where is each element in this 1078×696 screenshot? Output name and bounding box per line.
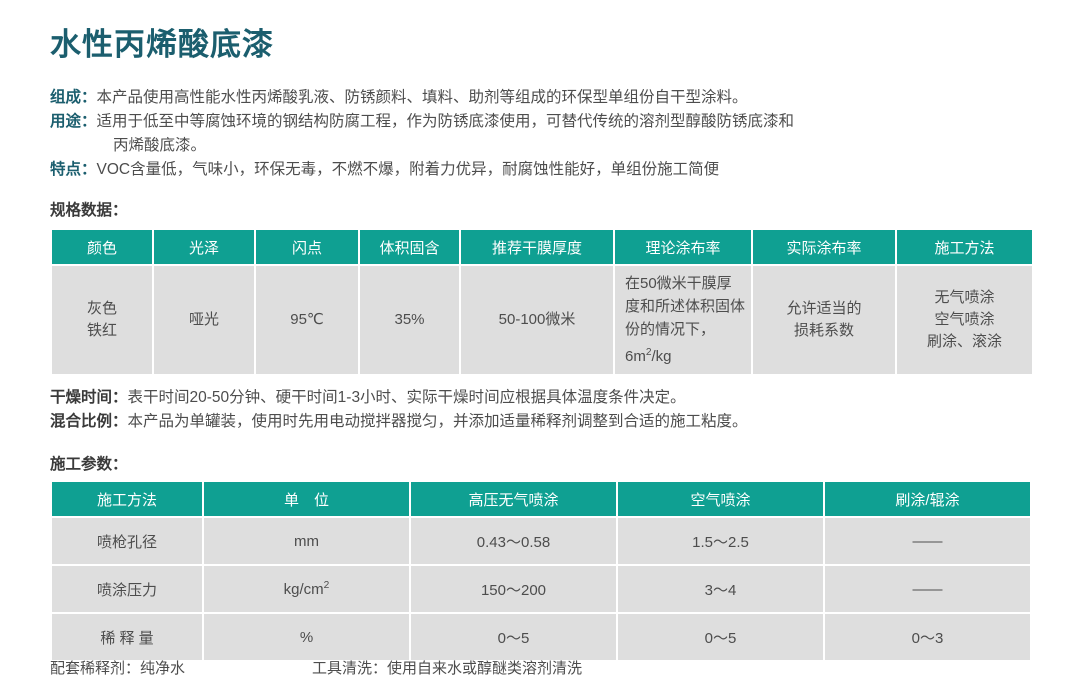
param-header-airless-spray: 高压无气喷涂 [411, 482, 616, 516]
intro-label-usage: 用途： [50, 113, 97, 130]
param-cell-airless: 0～5 [411, 614, 616, 660]
param-header-air-spray: 空气喷涂 [618, 482, 823, 516]
param-cell-label: 稀 释 量 [52, 614, 202, 660]
footer-thinner: 配套稀释剂：纯净水 [50, 657, 185, 678]
table-row: 稀 释 量 % 0～5 0～5 0～3 [52, 614, 1030, 660]
param-cell-air: 3～4 [618, 566, 823, 612]
param-table: 施工方法 单 位 高压无气喷涂 空气喷涂 刷涂/辊涂 喷枪孔径 mm 0.43～… [50, 480, 1032, 662]
intro-label-features: 特点： [50, 161, 97, 178]
note-label-mixing-ratio: 混合比例： [50, 413, 128, 430]
note-text-drying-time: 表干时间20-50分钟、硬干时间1-3小时、实际干燥时间应根据具体温度条件决定。 [128, 389, 686, 406]
notes-block: 干燥时间：表干时间20-50分钟、硬干时间1-3小时、实际干燥时间应根据具体温度… [50, 386, 1040, 434]
param-cell-airless: 150～200 [411, 566, 616, 612]
intro-row-features: 特点：VOC含量低，气味小，环保无毒，不燃不爆，附着力优异，耐腐蚀性能好，单组份… [50, 158, 1040, 182]
page-title: 水性丙烯酸底漆 [50, 28, 274, 62]
param-cell-airless: 0.43～0.58 [411, 518, 616, 564]
spec-table-row: 灰色 铁红 哑光 95℃ 35% 50-100微米 在50微米干膜厚度和所述体积… [52, 266, 1032, 374]
param-header-unit: 单 位 [204, 482, 409, 516]
spec-cell-actual-coverage: 允许适当的 损耗系数 [753, 266, 895, 374]
param-table-header-row: 施工方法 单 位 高压无气喷涂 空气喷涂 刷涂/辊涂 [52, 482, 1030, 516]
spec-cell-volume-solids: 35% [360, 266, 459, 374]
spec-section-caption: 规格数据： [50, 198, 128, 220]
spec-header-flashpoint: 闪点 [256, 230, 358, 264]
spec-header-color: 颜色 [52, 230, 152, 264]
param-cell-brush: —— [825, 566, 1030, 612]
param-cell-unit: mm [204, 518, 409, 564]
spec-cell-flashpoint: 95℃ [256, 266, 358, 374]
param-header-brush-roller: 刷涂/辊涂 [825, 482, 1030, 516]
param-cell-air: 0～5 [618, 614, 823, 660]
intro-text-usage: 适用于低至中等腐蚀环境的钢结构防腐工程，作为防锈底漆使用，可替代传统的溶剂型醇酸… [97, 113, 795, 130]
table-row: 喷涂压力 kg/cm2 150～200 3～4 —— [52, 566, 1030, 612]
spec-header-theoretical-coverage: 理论涂布率 [615, 230, 751, 264]
spec-cell-gloss: 哑光 [154, 266, 254, 374]
intro-row-usage: 用途：适用于低至中等腐蚀环境的钢结构防腐工程，作为防锈底漆使用，可替代传统的溶剂… [50, 110, 1040, 134]
note-text-mixing-ratio: 本产品为单罐装，使用时先用电动搅拌器搅匀，并添加适量稀释剂调整到合适的施工粘度。 [128, 413, 748, 430]
param-cell-label: 喷枪孔径 [52, 518, 202, 564]
param-cell-brush: —— [825, 518, 1030, 564]
param-cell-brush: 0～3 [825, 614, 1030, 660]
spec-table: 颜色 光泽 闪点 体积固含 推荐干膜厚度 理论涂布率 实际涂布率 施工方法 灰色… [50, 228, 1034, 376]
spec-header-gloss: 光泽 [154, 230, 254, 264]
table-row: 喷枪孔径 mm 0.43～0.58 1.5～2.5 —— [52, 518, 1030, 564]
footer-cleaning: 工具清洗：使用自来水或醇醚类溶剂清洗 [312, 657, 582, 678]
spec-cell-dry-film-thickness: 50-100微米 [461, 266, 613, 374]
note-label-drying-time: 干燥时间： [50, 389, 128, 406]
spec-header-volume-solids: 体积固含 [360, 230, 459, 264]
spec-cell-theoretical-coverage: 在50微米干膜厚度和所述体积固体份的情况下，6m2/kg [615, 266, 751, 374]
param-cell-air: 1.5～2.5 [618, 518, 823, 564]
spec-header-dry-film-thickness: 推荐干膜厚度 [461, 230, 613, 264]
param-header-method: 施工方法 [52, 482, 202, 516]
intro-text-features: VOC含量低，气味小，环保无毒，不燃不爆，附着力优异，耐腐蚀性能好，单组份施工简… [97, 161, 720, 178]
spec-cell-color: 灰色 铁红 [52, 266, 152, 374]
spec-cell-application-method: 无气喷涂 空气喷涂 刷涂、滚涂 [897, 266, 1032, 374]
intro-row-composition: 组成：本产品使用高性能水性丙烯酸乳液、防锈颜料、填料、助剂等组成的环保型单组份自… [50, 86, 1040, 110]
param-section-caption: 施工参数： [50, 452, 128, 474]
intro-label-composition: 组成： [50, 89, 97, 106]
param-cell-label: 喷涂压力 [52, 566, 202, 612]
spec-header-application-method: 施工方法 [897, 230, 1032, 264]
param-cell-unit: % [204, 614, 409, 660]
note-row-mixing-ratio: 混合比例：本产品为单罐装，使用时先用电动搅拌器搅匀，并添加适量稀释剂调整到合适的… [50, 410, 1040, 434]
note-row-drying-time: 干燥时间：表干时间20-50分钟、硬干时间1-3小时、实际干燥时间应根据具体温度… [50, 386, 1040, 410]
product-datasheet-page: 水性丙烯酸底漆 组成：本产品使用高性能水性丙烯酸乳液、防锈颜料、填料、助剂等组成… [0, 0, 1078, 696]
spec-table-header-row: 颜色 光泽 闪点 体积固含 推荐干膜厚度 理论涂布率 实际涂布率 施工方法 [52, 230, 1032, 264]
spec-header-actual-coverage: 实际涂布率 [753, 230, 895, 264]
intro-text-composition: 本产品使用高性能水性丙烯酸乳液、防锈颜料、填料、助剂等组成的环保型单组份自干型涂… [97, 89, 748, 106]
intro-text-usage-continuation: 丙烯酸底漆。 [50, 134, 1040, 158]
param-cell-unit: kg/cm2 [204, 566, 409, 612]
intro-block: 组成：本产品使用高性能水性丙烯酸乳液、防锈颜料、填料、助剂等组成的环保型单组份自… [50, 86, 1040, 182]
